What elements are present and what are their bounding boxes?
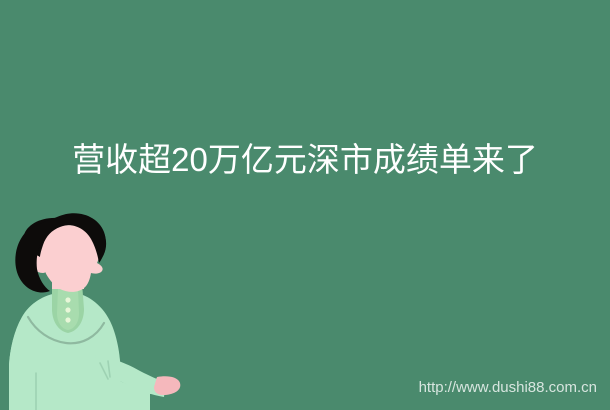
source-watermark: http://www.dushi88.com.cn [0, 378, 597, 398]
collar-buttons [65, 297, 70, 322]
image-canvas: 营收超20万亿元深市成绩单来了 http://www.dushi88.com.c… [0, 0, 610, 410]
page-title: 营收超20万亿元深市成绩单来了 [0, 139, 610, 181]
